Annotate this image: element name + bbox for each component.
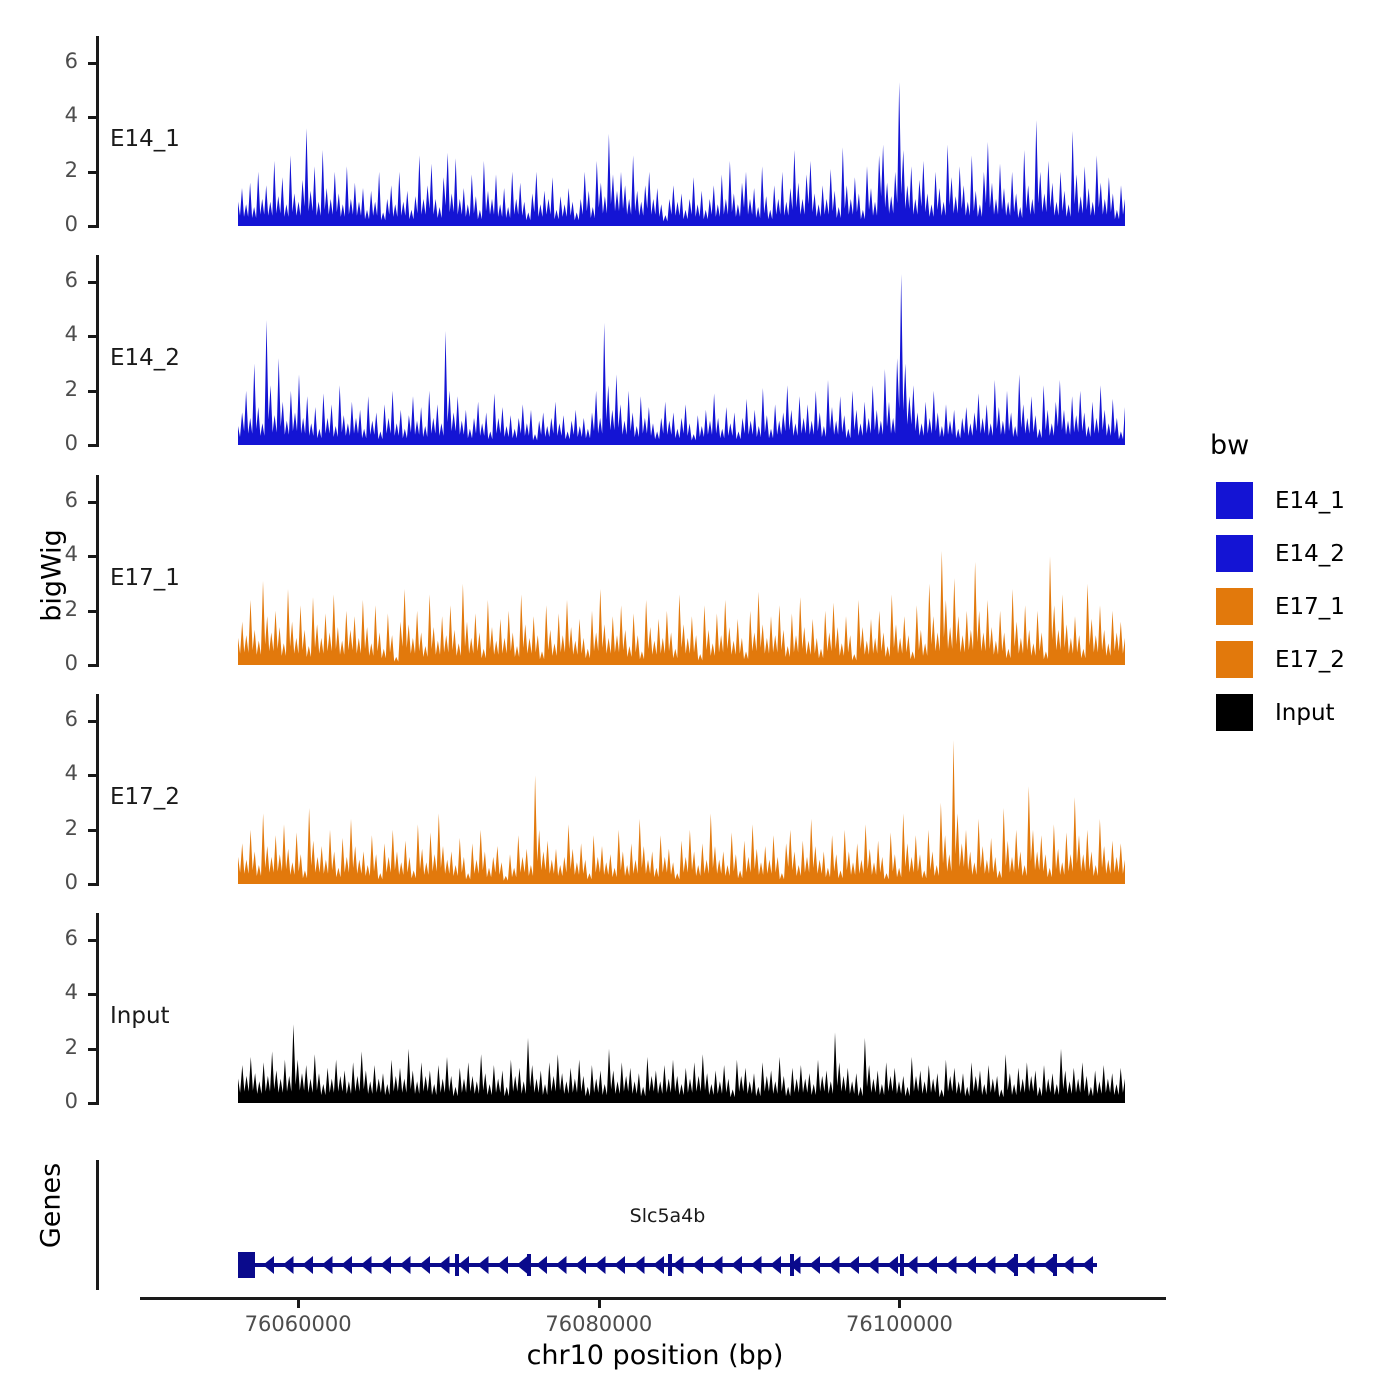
legend: bw E14_1E14_2E17_1E17_2Input bbox=[1210, 430, 1400, 690]
x-tick-mark bbox=[598, 1300, 601, 1308]
strand-arrow-icon bbox=[341, 1256, 352, 1274]
strand-arrow-icon bbox=[653, 1256, 664, 1274]
strand-arrow-icon bbox=[380, 1256, 391, 1274]
legend-color-swatch bbox=[1216, 588, 1253, 625]
strand-arrow-icon bbox=[614, 1256, 625, 1274]
x-tick-mark bbox=[898, 1300, 901, 1308]
gene-exon bbox=[668, 1254, 672, 1276]
strand-arrow-icon bbox=[985, 1256, 996, 1274]
strand-arrow-icon bbox=[517, 1256, 528, 1274]
x-tick-label: 76100000 bbox=[809, 1312, 989, 1336]
legend-item-label: Input bbox=[1275, 700, 1335, 726]
strand-arrow-icon bbox=[848, 1256, 859, 1274]
x-tick-mark bbox=[297, 1300, 300, 1308]
strand-arrow-icon bbox=[692, 1256, 703, 1274]
strand-arrow-icon bbox=[673, 1256, 684, 1274]
strand-arrow-icon bbox=[926, 1256, 937, 1274]
strand-arrow-icon bbox=[458, 1256, 469, 1274]
strand-arrow-icon bbox=[868, 1256, 879, 1274]
strand-arrow-icon bbox=[575, 1256, 586, 1274]
strand-arrow-icon bbox=[809, 1256, 820, 1274]
strand-arrow-icon bbox=[1082, 1256, 1093, 1274]
x-axis-title: chr10 position (bp) bbox=[240, 1340, 1070, 1371]
legend-item-e14_2[interactable]: E14_2 bbox=[1216, 535, 1345, 572]
legend-color-swatch bbox=[1216, 641, 1253, 678]
strand-arrow-icon bbox=[439, 1256, 450, 1274]
legend-item-label: E17_2 bbox=[1275, 647, 1345, 673]
gene-exon bbox=[900, 1254, 904, 1276]
strand-arrow-icon bbox=[595, 1256, 606, 1274]
strand-arrow-icon bbox=[1063, 1256, 1074, 1274]
strand-arrow-icon bbox=[361, 1256, 372, 1274]
legend-item-e14_1[interactable]: E14_1 bbox=[1216, 482, 1345, 519]
legend-item-input[interactable]: Input bbox=[1216, 694, 1335, 731]
strand-arrow-icon bbox=[1004, 1256, 1015, 1274]
legend-color-swatch bbox=[1216, 535, 1253, 572]
strand-arrow-icon bbox=[829, 1256, 840, 1274]
strand-arrow-icon bbox=[712, 1256, 723, 1274]
strand-arrow-icon bbox=[283, 1256, 294, 1274]
legend-item-e17_2[interactable]: E17_2 bbox=[1216, 641, 1345, 678]
legend-item-e17_1[interactable]: E17_1 bbox=[1216, 588, 1345, 625]
strand-arrow-icon bbox=[497, 1256, 508, 1274]
legend-item-label: E14_1 bbox=[1275, 488, 1345, 514]
gene-exon bbox=[238, 1252, 255, 1278]
strand-arrow-icon bbox=[965, 1256, 976, 1274]
strand-arrow-icon bbox=[731, 1256, 742, 1274]
gene-exon bbox=[527, 1254, 531, 1276]
strand-arrow-icon bbox=[419, 1256, 430, 1274]
strand-arrow-icon bbox=[536, 1256, 547, 1274]
legend-item-label: E17_1 bbox=[1275, 594, 1345, 620]
strand-arrow-icon bbox=[556, 1256, 567, 1274]
strand-arrow-icon bbox=[770, 1256, 781, 1274]
x-axis-line bbox=[140, 1297, 1166, 1300]
legend-item-label: E14_2 bbox=[1275, 541, 1345, 567]
strand-arrow-icon bbox=[751, 1256, 762, 1274]
legend-title: bw bbox=[1210, 430, 1249, 461]
strand-arrow-icon bbox=[907, 1256, 918, 1274]
strand-arrow-icon bbox=[634, 1256, 645, 1274]
legend-color-swatch bbox=[1216, 694, 1253, 731]
strand-arrow-icon bbox=[1043, 1256, 1054, 1274]
strand-arrow-icon bbox=[1024, 1256, 1035, 1274]
x-tick-label: 76080000 bbox=[509, 1312, 689, 1336]
strand-arrow-icon bbox=[400, 1256, 411, 1274]
strand-arrow-icon bbox=[478, 1256, 489, 1274]
legend-color-swatch bbox=[1216, 482, 1253, 519]
strand-arrow-icon bbox=[887, 1256, 898, 1274]
strand-arrow-icon bbox=[946, 1256, 957, 1274]
strand-arrow-icon bbox=[322, 1256, 333, 1274]
gene-model[interactable] bbox=[0, 0, 1400, 1400]
strand-arrow-icon bbox=[263, 1256, 274, 1274]
strand-arrow-icon bbox=[302, 1256, 313, 1274]
x-tick-label: 76060000 bbox=[208, 1312, 388, 1336]
